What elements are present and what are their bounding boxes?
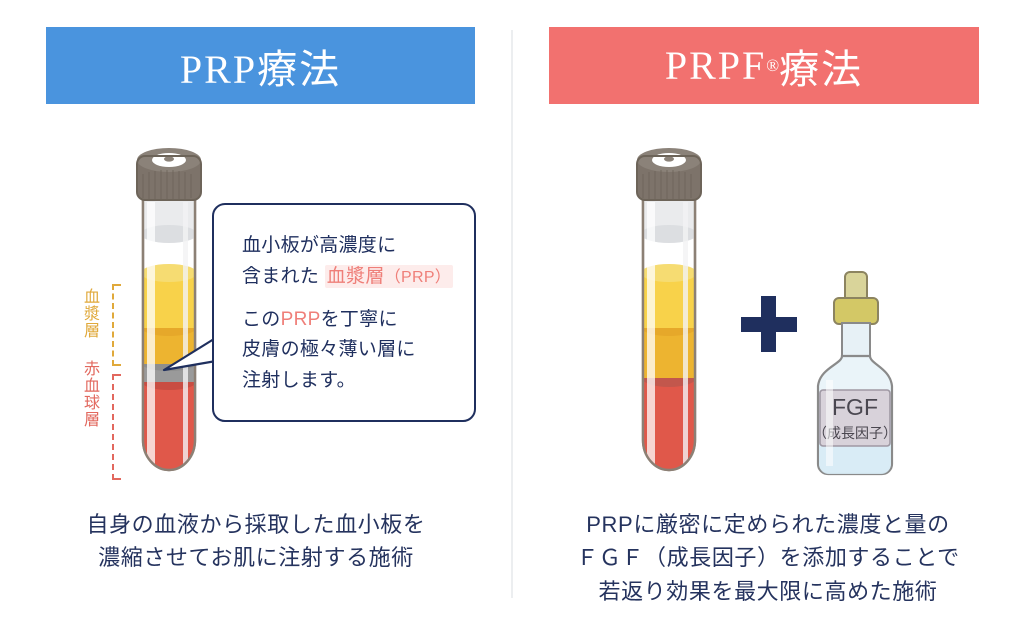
caption-prpf: PRPに厳密に定められた濃度と量の ＦＧＦ（成長因子）を添加することで 若返り効… <box>512 508 1024 608</box>
caption-prpf-line-2: ＦＧＦ（成長因子）を添加することで <box>512 541 1024 574</box>
callout-line-5: 注射します。 <box>242 366 474 397</box>
callout-line-3: このPRPを丁寧に <box>242 305 474 336</box>
fgf-label-sub: （成長因子） <box>813 425 897 441</box>
test-tube-prpf <box>633 148 705 478</box>
caption-prp: 自身の血液から採取した血小板を 濃縮させてお肌に注射する施術 <box>0 508 512 575</box>
registered-trademark-icon: ® <box>766 56 779 76</box>
banner-prp-label: PRP療法 <box>180 37 341 95</box>
tube-cap-graphic <box>137 148 201 200</box>
caption-prp-line-2: 濃縮させてお肌に注射する施術 <box>0 541 512 574</box>
callout-accent-prp: PRP <box>281 309 321 330</box>
callout-line-2-prefix: 含まれた <box>242 266 319 287</box>
infographic-root: PRP療法 血漿層 赤血球層 <box>0 0 1024 623</box>
fgf-label-main: FGF <box>832 394 878 420</box>
caption-prp-line-1: 自身の血液から採取した血小板を <box>0 508 512 541</box>
bracket-plasma <box>112 284 121 366</box>
callout-line-4: 皮膚の極々薄い層に <box>242 335 474 366</box>
label-rbc-layer: 赤血球層 <box>80 360 97 428</box>
plus-icon <box>741 296 797 352</box>
banner-prpf-suffix: 療法 <box>779 37 863 95</box>
layer-brackets <box>110 284 124 482</box>
callout-box-prp: 血小板が高濃度に 含まれた 血漿層（PRP） このPRPを丁寧に 皮膚の極々薄い… <box>212 203 476 422</box>
fgf-bottle: FGF （成長因子） <box>798 268 908 480</box>
bracket-rbc <box>112 374 121 480</box>
banner-prpf-title: PRPF®療法 <box>549 27 979 104</box>
tube-cap-graphic <box>637 148 701 200</box>
label-plasma-layer: 血漿層 <box>80 288 97 339</box>
caption-prpf-line-3: 若返り効果を最大限に高めた施術 <box>512 575 1024 608</box>
test-tube-prp <box>133 148 205 478</box>
caption-prpf-line-1: PRPに厳密に定められた濃度と量の <box>512 508 1024 541</box>
callout-line-2: 含まれた 血漿層（PRP） <box>242 262 474 293</box>
tube-side-labels: 血漿層 赤血球層 <box>78 288 104 480</box>
banner-prp-title: PRP療法 <box>46 27 475 104</box>
panel-prp: PRP療法 血漿層 赤血球層 <box>0 0 512 623</box>
callout-highlight-plasma: 血漿層（PRP） <box>325 265 453 288</box>
banner-prpf-label: PRPF <box>665 42 766 89</box>
callout-line-1: 血小板が高濃度に <box>242 231 474 262</box>
